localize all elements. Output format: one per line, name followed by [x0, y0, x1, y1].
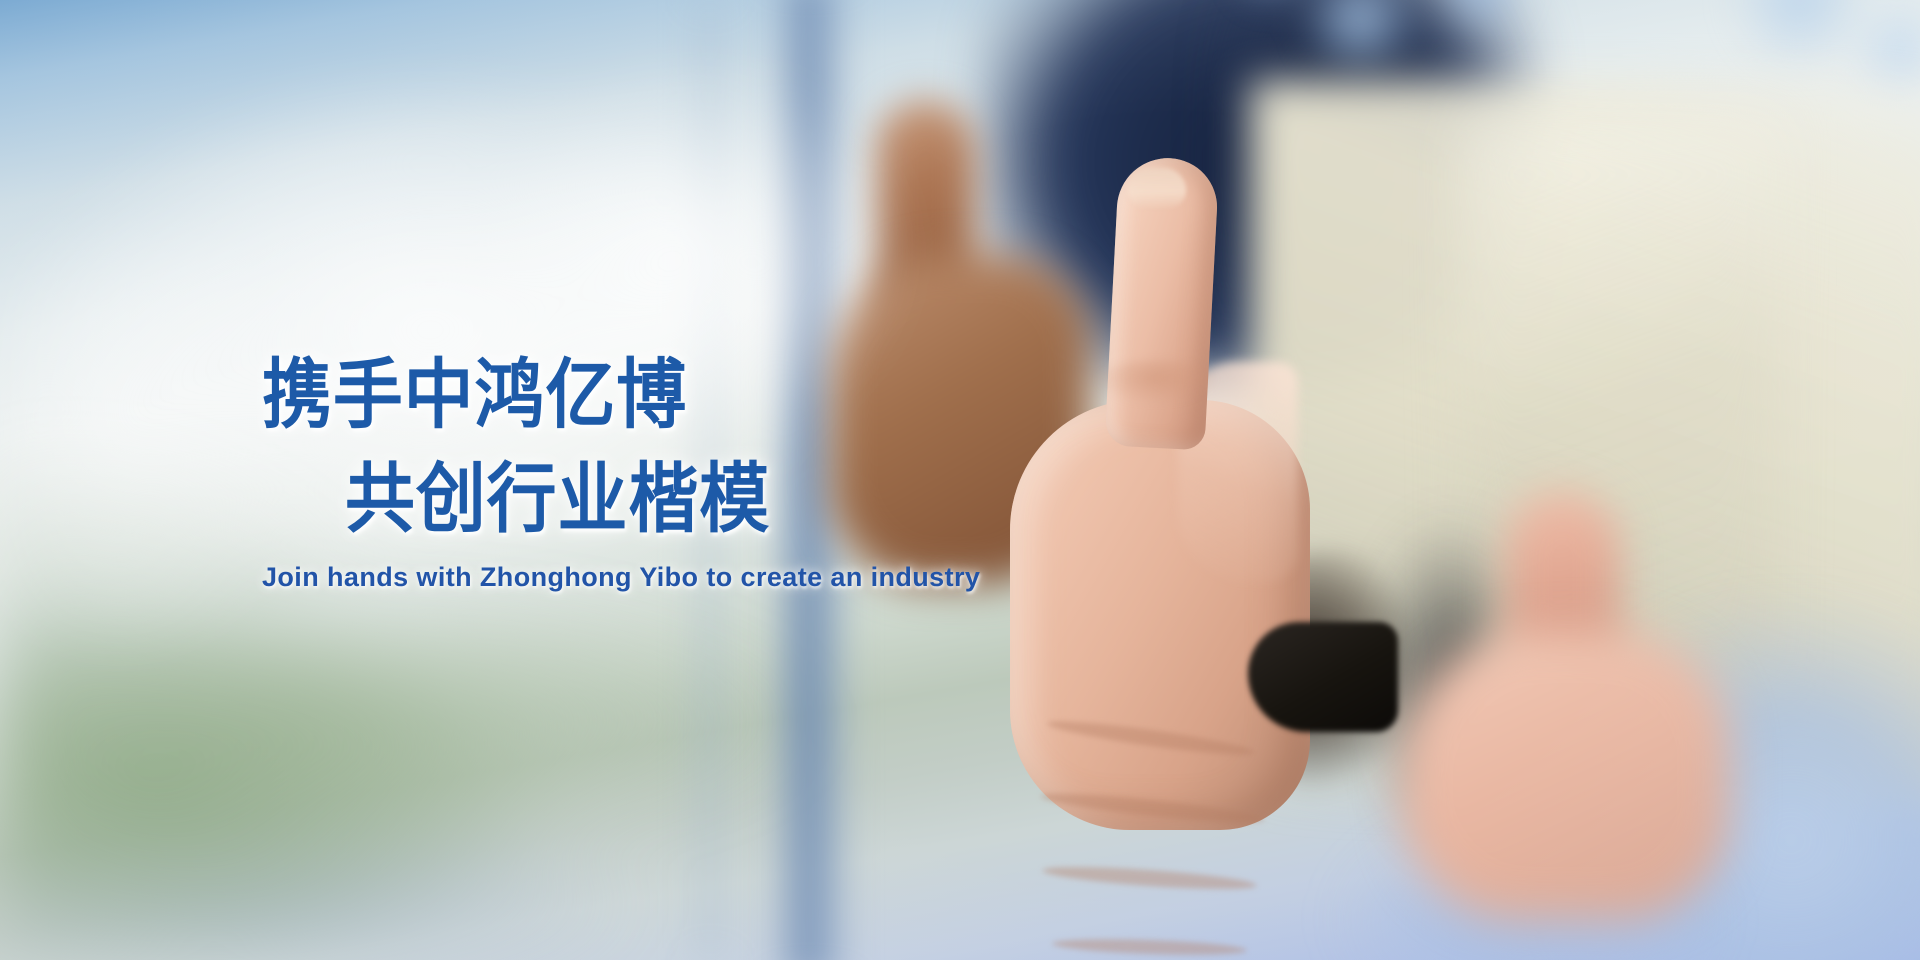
- headline-chinese-line-1: 携手中鸿亿博: [262, 358, 687, 434]
- hero-banner: 携手中鸿亿博 共创行业楷模 Join hands with Zhonghong …: [0, 0, 1920, 960]
- headline-english-subtitle: Join hands with Zhonghong Yibo to create…: [262, 562, 980, 593]
- headline-block: 携手中鸿亿博 共创行业楷模 Join hands with Zhonghong …: [0, 0, 900, 960]
- headline-chinese-line-2: 共创行业楷模: [345, 462, 770, 538]
